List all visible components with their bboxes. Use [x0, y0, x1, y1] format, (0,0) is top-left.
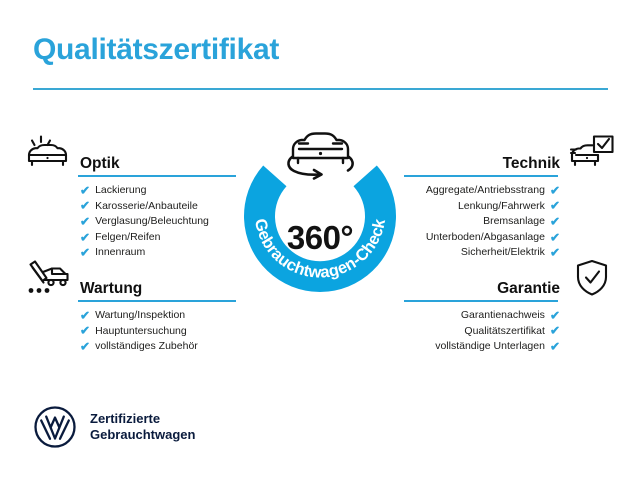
list-item: ✔Unterboden/Abgasanlage — [404, 230, 616, 246]
check-icon: ✔ — [80, 309, 90, 321]
shield-check-icon — [568, 258, 616, 298]
header-divider — [33, 88, 608, 90]
check-icon: ✔ — [550, 184, 560, 196]
list-item-label: Lackierung — [95, 183, 146, 199]
list-item-label: Qualitätszertifikat — [464, 324, 545, 340]
check-icon: ✔ — [550, 200, 560, 212]
list-item: ✔Felgen/Reifen — [24, 230, 236, 246]
section-divider — [404, 175, 558, 177]
footer-line-1: Zertifizierte — [90, 411, 195, 427]
list-item-label: Garantienachweis — [461, 308, 545, 324]
section-title: Technik — [503, 155, 560, 173]
list-item-label: Karosserie/Anbauteile — [95, 199, 198, 215]
footer-line-2: Gebrauchtwagen — [90, 427, 195, 443]
section-wartung: Wartung ✔Wartung/Inspektion ✔Hauptunters… — [24, 258, 236, 300]
list-item: ✔Lenkung/Fahrwerk — [404, 199, 616, 215]
section-title: Garantie — [497, 280, 560, 298]
list-item: ✔Aggregate/Antriebsstrang — [404, 183, 616, 199]
list-item-label: Bremsanlage — [483, 214, 545, 230]
section-header: Garantie — [404, 258, 616, 300]
list-item: ✔Hauptuntersuchung — [24, 324, 236, 340]
list-item-label: vollständige Unterlagen — [435, 339, 545, 355]
check-icon: ✔ — [550, 231, 560, 243]
section-garantie: Garantie ✔Garantienachweis ✔Qualitätszer… — [404, 258, 616, 300]
list-item: ✔vollständige Unterlagen — [404, 339, 616, 355]
car-shine-icon — [24, 133, 72, 173]
check-icon: ✔ — [80, 184, 90, 196]
list-item-label: Lenkung/Fahrwerk — [458, 199, 545, 215]
list-item: ✔vollständiges Zubehör — [24, 339, 236, 355]
list-item: ✔Qualitätszertifikat — [404, 324, 616, 340]
check-list-optik: ✔Lackierung ✔Karosserie/Anbauteile ✔Verg… — [24, 183, 236, 261]
section-header: Optik — [24, 133, 236, 175]
check-icon: ✔ — [550, 325, 560, 337]
check-list-technik: ✔Aggregate/Antriebsstrang ✔Lenkung/Fahrw… — [404, 183, 616, 261]
check-icon: ✔ — [550, 247, 560, 259]
badge-value: 360° — [233, 219, 407, 257]
check-list-wartung: ✔Wartung/Inspektion ✔Hauptuntersuchung ✔… — [24, 308, 236, 355]
car-rotate-icon — [278, 121, 362, 183]
footer-brand: Zertifizierte Gebrauchtwagen — [33, 405, 195, 449]
footer-brand-text: Zertifizierte Gebrauchtwagen — [90, 411, 195, 443]
check-icon: ✔ — [80, 215, 90, 227]
list-item: ✔Bremsanlage — [404, 214, 616, 230]
section-title: Wartung — [80, 280, 142, 298]
list-item-label: Wartung/Inspektion — [95, 308, 185, 324]
badge-360-gebrauchtwagen-check: Gebrauchtwagen-Check 360° — [233, 125, 407, 299]
section-divider — [78, 175, 236, 177]
check-icon: ✔ — [80, 231, 90, 243]
list-item: ✔Wartung/Inspektion — [24, 308, 236, 324]
check-icon: ✔ — [80, 247, 90, 259]
section-technik: Technik ✔Aggregate/Antriebsstrang ✔Lenku… — [404, 133, 616, 175]
list-item-label: Hauptuntersuchung — [95, 324, 187, 340]
check-icon: ✔ — [80, 325, 90, 337]
check-icon: ✔ — [550, 340, 560, 352]
list-item-label: Aggregate/Antriebsstrang — [426, 183, 545, 199]
check-icon: ✔ — [80, 200, 90, 212]
list-item-label: Verglasung/Beleuchtung — [95, 214, 209, 230]
page-title: Qualitätszertifikat — [33, 33, 279, 67]
car-checkbox-icon — [568, 133, 616, 173]
vw-logo-icon — [33, 405, 77, 449]
list-item-label: Unterboden/Abgasanlage — [426, 230, 545, 246]
section-divider — [78, 300, 236, 302]
section-header: Wartung — [24, 258, 236, 300]
check-list-garantie: ✔Garantienachweis ✔Qualitätszertifikat ✔… — [404, 308, 616, 355]
list-item: ✔Lackierung — [24, 183, 236, 199]
check-icon: ✔ — [80, 340, 90, 352]
certificate-page: Qualitätszertifikat Optik — [0, 0, 640, 480]
check-icon: ✔ — [550, 215, 560, 227]
section-title: Optik — [80, 155, 120, 173]
list-item: ✔Verglasung/Beleuchtung — [24, 214, 236, 230]
list-item: ✔Karosserie/Anbauteile — [24, 199, 236, 215]
section-divider — [404, 300, 558, 302]
list-item-label: vollständiges Zubehör — [95, 339, 198, 355]
section-optik: Optik ✔Lackierung ✔Karosserie/Anbauteile… — [24, 133, 236, 175]
list-item: ✔Garantienachweis — [404, 308, 616, 324]
section-header: Technik — [404, 133, 616, 175]
check-icon: ✔ — [550, 309, 560, 321]
wrench-car-icon — [24, 258, 72, 298]
list-item-label: Felgen/Reifen — [95, 230, 160, 246]
